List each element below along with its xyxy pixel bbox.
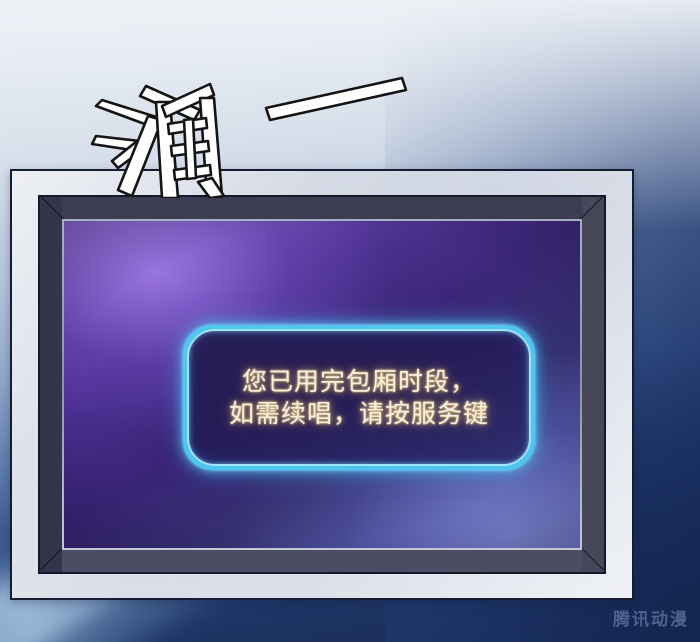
notice-line-2: 如需续唱，请按服务键 (229, 398, 489, 430)
bevel-face-right (582, 197, 604, 572)
television-frame: 您已用完包厢时段， 如需续唱，请按服务键 (10, 169, 634, 600)
bevel-face-bottom (40, 550, 604, 572)
bevel-face-top (40, 197, 604, 219)
publisher-watermark: 腾讯动漫 (613, 605, 689, 630)
bevel-face-left (40, 197, 62, 572)
karaoke-notice-panel: 您已用完包厢时段， 如需续唱，请按服务键 (183, 325, 535, 470)
tv-screen: 您已用完包厢时段， 如需续唱，请按服务键 (64, 221, 580, 548)
screen-liner: 您已用完包厢时段， 如需续唱，请按服务键 (62, 219, 582, 550)
television-bezel: 您已用完包厢时段， 如需续唱，请按服务键 (38, 195, 606, 574)
comic-panel-scene: 您已用完包厢时段， 如需续唱，请按服务键 (0, 0, 700, 642)
notice-line-1: 您已用完包厢时段， (242, 366, 476, 398)
